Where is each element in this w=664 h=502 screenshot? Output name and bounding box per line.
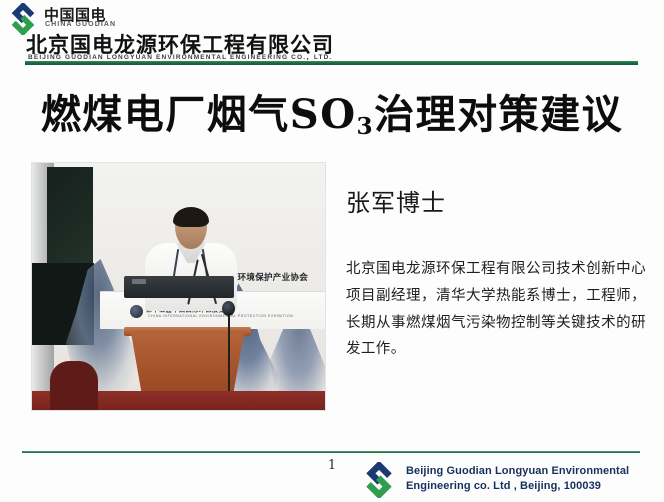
photo-exhibition-logo-icon	[130, 305, 143, 318]
page-title: 燃煤电厂烟气SO3治理对策建议	[0, 82, 664, 140]
footer-company-line-2: Engineering co. Ltd , Beijing, 100039	[406, 479, 629, 494]
title-part-1: 燃煤电厂烟气SO	[41, 91, 357, 138]
footer-divider	[22, 451, 640, 453]
header-divider	[25, 61, 638, 65]
guodian-diamond-logo-icon	[360, 462, 398, 498]
speaker-bio: 北京国电龙源环保工程有限公司技术创新中心项目副经理，清华大学热能系博士，工程师，…	[346, 256, 646, 363]
company-name-en: BEIJING GUODIAN LONGYUAN ENVIRONMENTAL E…	[28, 51, 332, 61]
brand-name-en: CHINA GUODIAN	[45, 21, 116, 28]
speaker-photo: 中国环境保护产业协会 第十五届中国国际环保展览会 CHINA INTERNATI…	[32, 163, 325, 410]
slide-root: 中国国电 CHINA GUODIAN 北京国电龙源环保工程有限公司 BEIJIN…	[0, 0, 664, 502]
speaker-name: 张军博士	[346, 183, 446, 218]
photo-foreground-figure	[50, 361, 98, 410]
photo-floor-microphone-stand	[228, 313, 230, 393]
title-part-2: 治理对策建议	[374, 91, 623, 138]
photo-podium-text-sub: CHINA INTERNATIONAL ENVIRONMENTAL PROTEC…	[148, 314, 293, 318]
title-subscript: 3	[357, 113, 375, 140]
footer-company-text: Beijing Guodian Longyuan Environmental E…	[406, 464, 629, 494]
photo-laptop-highlight	[132, 279, 146, 284]
footer-company-line-1: Beijing Guodian Longyuan Environmental	[406, 464, 629, 479]
